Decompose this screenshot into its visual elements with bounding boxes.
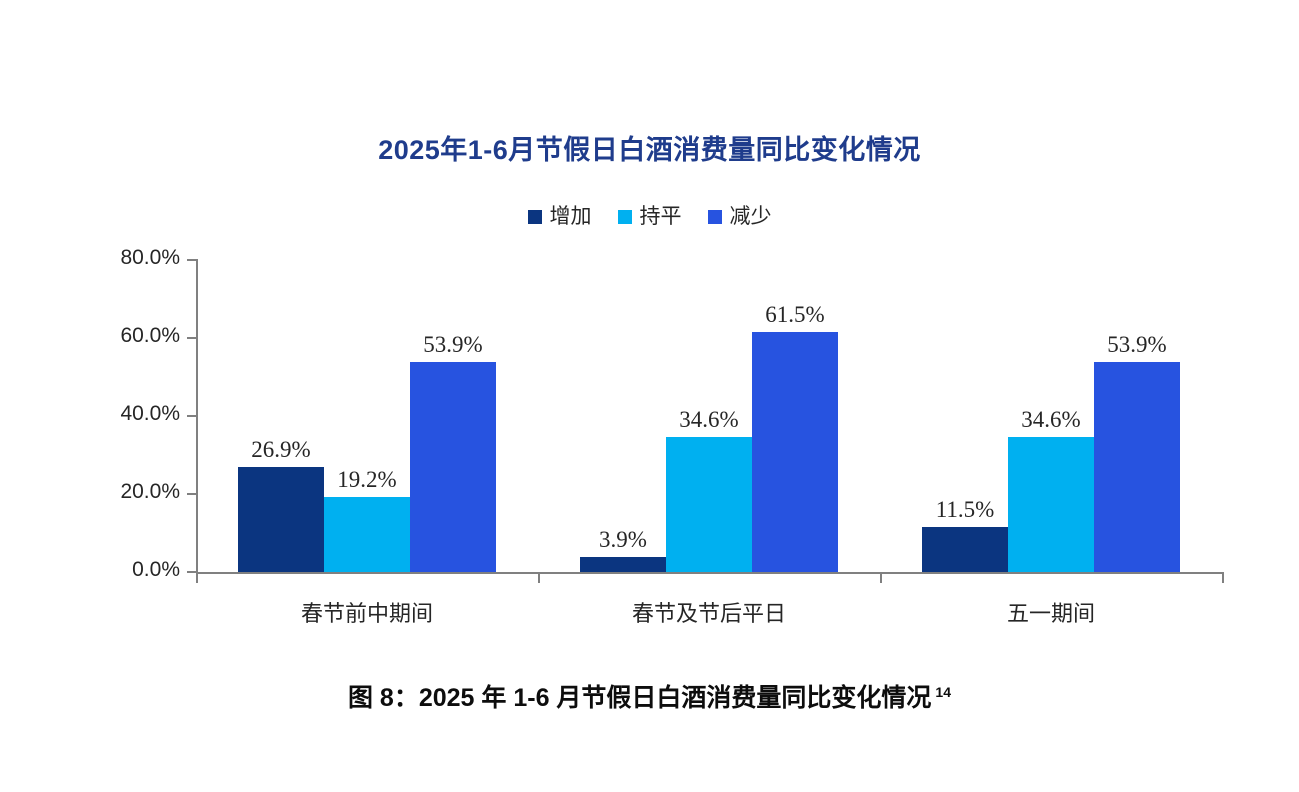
legend-swatch-decrease xyxy=(708,210,722,224)
bar[interactable]: 34.6% xyxy=(666,437,752,572)
bar-value-label: 53.9% xyxy=(1107,333,1166,356)
y-axis-tick-label: 20.0% xyxy=(84,480,180,504)
bar-value-label: 34.6% xyxy=(1021,408,1080,431)
chart-legend: 增加 持平 减少 xyxy=(0,206,1299,227)
legend-label-decrease: 减少 xyxy=(730,206,772,227)
plot-area: 80.0%60.0%40.0%20.0%0.0% 26.9%19.2%53.9%… xyxy=(196,260,1222,572)
y-axis-tick xyxy=(187,571,196,573)
bar[interactable]: 19.2% xyxy=(324,497,410,572)
legend-item-decrease: 减少 xyxy=(708,206,772,227)
x-axis-tick xyxy=(196,572,198,583)
chart-figure: 2025年1-6月节假日白酒消费量同比变化情况 增加 持平 减少 80.0%60… xyxy=(0,0,1299,792)
figure-caption: 图 8：2025 年 1-6 月节假日白酒消费量同比变化情况14 xyxy=(0,678,1299,714)
chart-title: 2025年1-6月节假日白酒消费量同比变化情况 xyxy=(0,128,1299,167)
y-axis-line xyxy=(196,259,198,573)
legend-swatch-increase xyxy=(528,210,542,224)
figure-caption-footnote: 14 xyxy=(935,684,951,700)
bar-value-label: 53.9% xyxy=(423,333,482,356)
bar-value-label: 26.9% xyxy=(251,438,310,461)
bar-value-label: 3.9% xyxy=(599,528,647,551)
bar[interactable]: 53.9% xyxy=(1094,362,1180,572)
bar[interactable]: 34.6% xyxy=(1008,437,1094,572)
x-axis-tick xyxy=(538,572,540,583)
bar-value-label: 19.2% xyxy=(337,468,396,491)
legend-item-flat: 持平 xyxy=(618,206,682,227)
x-axis-category-label: 五一期间 xyxy=(1007,596,1095,628)
legend-label-increase: 增加 xyxy=(550,206,592,227)
y-axis-tick-label: 80.0% xyxy=(84,246,180,270)
y-axis-tick xyxy=(187,259,196,261)
y-axis-tick-label: 60.0% xyxy=(84,324,180,348)
figure-caption-text: 图 8：2025 年 1-6 月节假日白酒消费量同比变化情况 xyxy=(348,684,931,712)
bar-value-label: 61.5% xyxy=(765,303,824,326)
bar-value-label: 34.6% xyxy=(679,408,738,431)
y-axis-tick-label: 40.0% xyxy=(84,402,180,426)
bar[interactable]: 61.5% xyxy=(752,332,838,572)
legend-swatch-flat xyxy=(618,210,632,224)
bar[interactable]: 11.5% xyxy=(922,527,1008,572)
y-axis-tick-label: 0.0% xyxy=(84,558,180,582)
y-axis-tick xyxy=(187,415,196,417)
bar-value-label: 11.5% xyxy=(936,498,995,521)
x-axis-line xyxy=(196,572,1222,574)
bar[interactable]: 3.9% xyxy=(580,557,666,572)
legend-label-flat: 持平 xyxy=(640,206,682,227)
y-axis-tick xyxy=(187,337,196,339)
x-axis-category-label: 春节及节后平日 xyxy=(632,596,786,628)
legend-item-increase: 增加 xyxy=(528,206,592,227)
y-axis-tick xyxy=(187,493,196,495)
x-axis-category-label: 春节前中期间 xyxy=(301,596,433,628)
bar[interactable]: 26.9% xyxy=(238,467,324,572)
bar[interactable]: 53.9% xyxy=(410,362,496,572)
x-axis-tick xyxy=(880,572,882,583)
x-axis-tick xyxy=(1222,572,1224,583)
